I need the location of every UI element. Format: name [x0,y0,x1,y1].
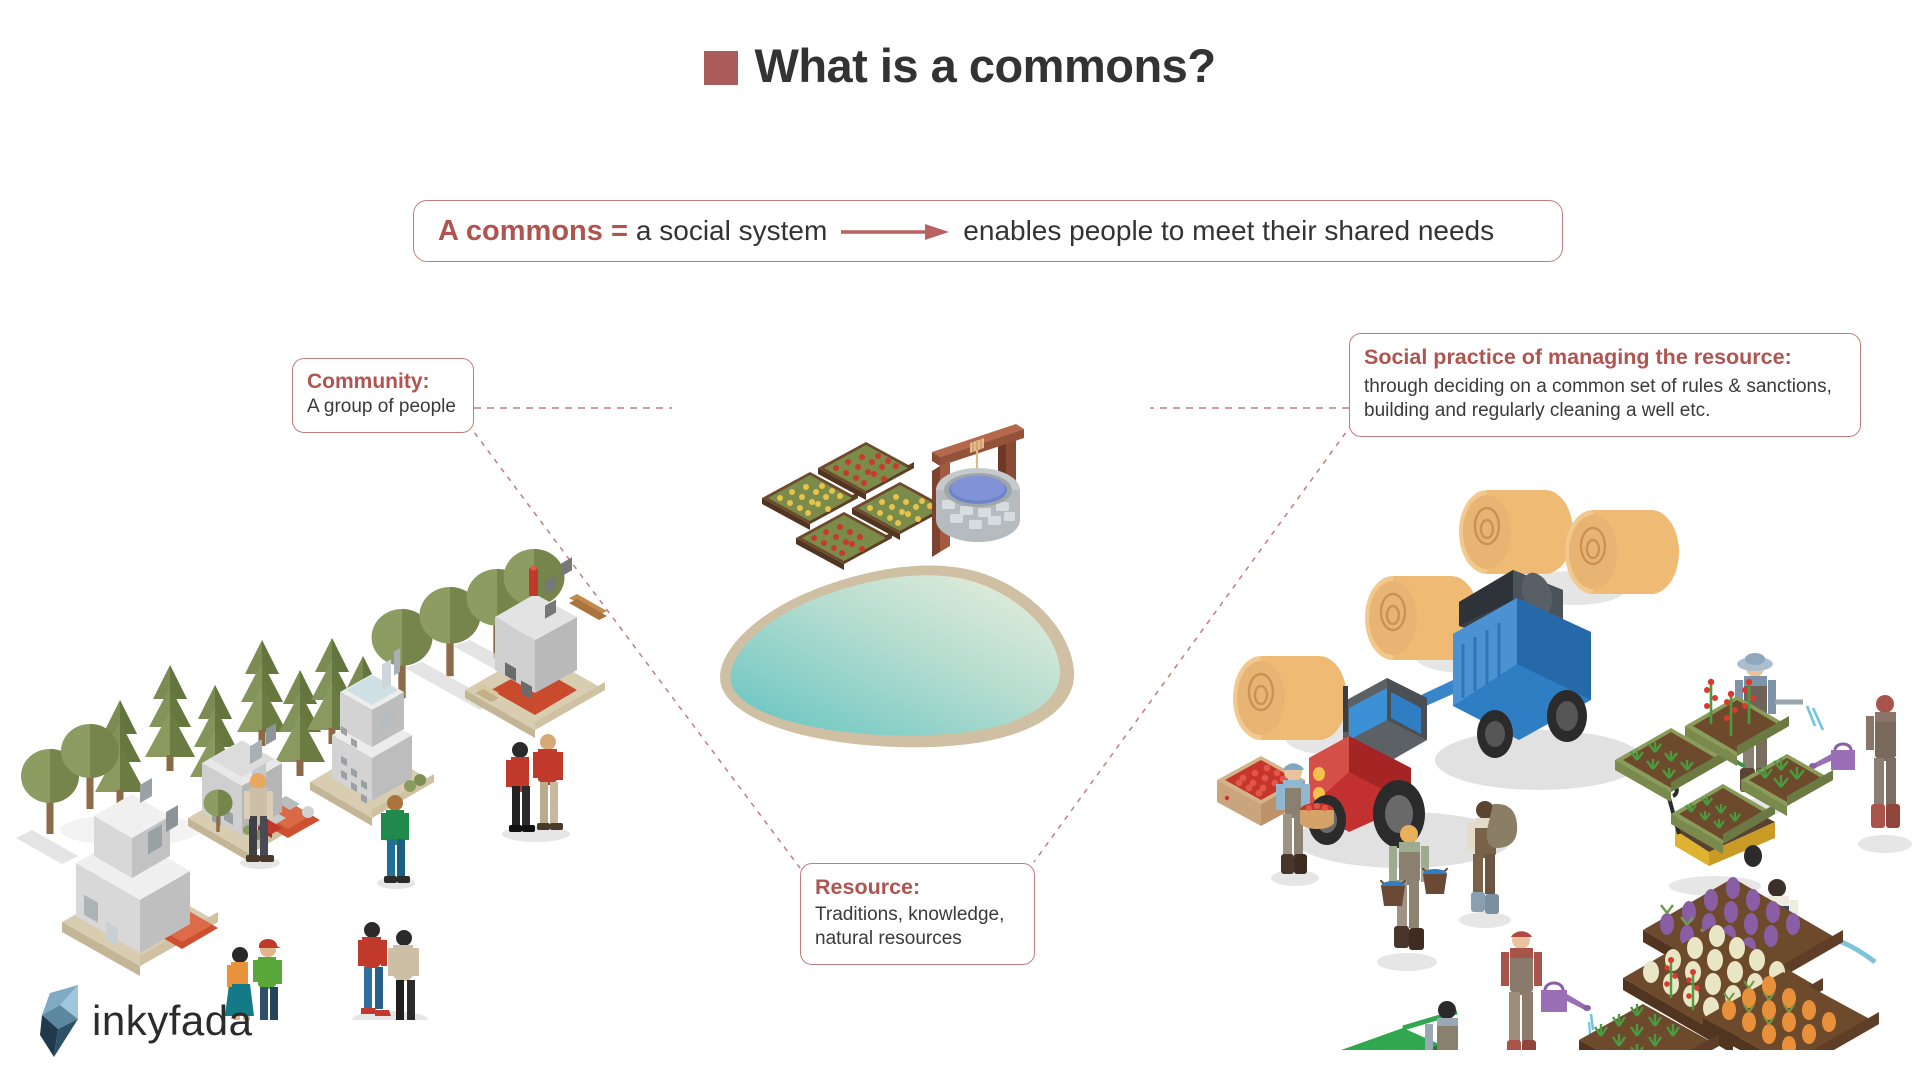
definition-right-phrase: enables people to meet their shared need… [963,215,1494,247]
lake [720,566,1074,748]
callout-practice-title: Social practice of managing the resource… [1364,344,1846,371]
farmer-purple-can [1807,695,1912,853]
callout-resource-title: Resource: [815,874,1020,901]
callout-practice: Social practice of managing the resource… [1349,333,1861,437]
inkyfada-diamond-icon [38,985,78,1057]
page-title: What is a commons? [0,42,1920,89]
callout-community-body: A group of people [307,395,459,419]
page-title-text: What is a commons? [754,42,1215,89]
crop-rows-large [1579,877,1879,1050]
definition-box: A commons = a social system enables peop… [413,200,1563,262]
square-bullet-icon [704,51,738,85]
callout-community-title: Community: [307,369,459,395]
crop-plots [762,442,948,570]
callout-resource-body: Traditions, knowledge, natural resources [815,903,1020,952]
callout-practice-body: through deciding on a common set of rule… [1364,375,1846,424]
inkyfada-logo: inkyfada [38,985,252,1057]
right-arrow-icon [841,221,949,243]
callout-community: Community: A group of people [292,358,474,433]
stone-well [932,424,1024,557]
farmer-green-wheelbarrow [1313,1001,1463,1050]
infographic-canvas: What is a commons? A commons = a social … [0,0,1920,1080]
inkyfada-wordmark: inkyfada [92,1000,252,1042]
isometric-farm-scene [1215,470,1915,1050]
isometric-lake-well-scene [700,420,1140,760]
definition-term: A commons = [438,215,628,248]
isometric-village-scene [10,520,670,1020]
definition-left-phrase: a social system [636,215,827,247]
farmer-watering-can [1493,931,1593,1050]
callout-resource: Resource: Traditions, knowledge, natural… [800,863,1035,965]
crop-beds-upper [1615,679,1833,854]
